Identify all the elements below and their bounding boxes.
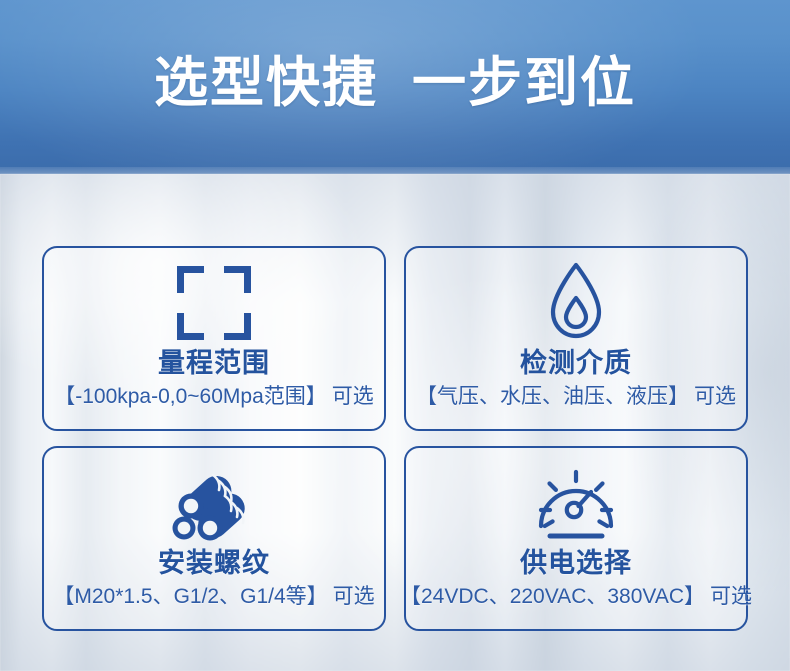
screw-thread-icon: [166, 457, 262, 549]
card-subtitle-text: 【M20*1.5、G1/2、G1/4等】: [53, 585, 327, 608]
feature-card-thread[interactable]: 安装螺纹 【M20*1.5、G1/2、G1/4等】可选: [42, 446, 386, 631]
header-banner: 选型快捷 一步到位: [0, 0, 790, 174]
card-option-suffix: 可选: [694, 385, 736, 408]
feature-card-medium[interactable]: 检测介质 【气压、水压、油压、液压】可选: [404, 246, 748, 431]
card-subtitle: 【气压、水压、油压、液压】可选: [416, 383, 736, 411]
card-option-suffix: 可选: [333, 585, 375, 608]
promo-page: 选型快捷 一步到位: [0, 0, 790, 671]
feature-card-range[interactable]: 量程范围 【-100kpa-0,0~60Mpa范围】可选: [42, 246, 386, 431]
card-title: 安装螺纹: [158, 547, 270, 579]
card-subtitle-text: 【-100kpa-0,0~60Mpa范围】: [54, 385, 327, 408]
card-title: 供电选择: [520, 547, 632, 579]
gauge-icon: [533, 457, 619, 549]
card-title: 检测介质: [520, 347, 632, 379]
card-option-suffix: 可选: [710, 585, 752, 608]
water-drop-icon: [547, 257, 605, 349]
card-subtitle-text: 【气压、水压、油压、液压】: [416, 385, 689, 408]
card-subtitle: 【24VDC、220VAC、380VAC】可选: [400, 583, 752, 611]
scan-frame-icon: [177, 257, 251, 349]
banner-title: 选型快捷 一步到位: [0, 47, 790, 119]
card-subtitle: 【-100kpa-0,0~60Mpa范围】可选: [54, 383, 374, 411]
feature-card-power[interactable]: 供电选择 【24VDC、220VAC、380VAC】可选: [404, 446, 748, 631]
card-subtitle: 【M20*1.5、G1/2、G1/4等】可选: [53, 583, 374, 611]
card-option-suffix: 可选: [332, 385, 374, 408]
card-title: 量程范围: [158, 347, 270, 379]
card-subtitle-text: 【24VDC、220VAC、380VAC】: [400, 585, 705, 608]
feature-card-grid: 量程范围 【-100kpa-0,0~60Mpa范围】可选 检测介质 【气压、水压…: [42, 246, 748, 631]
